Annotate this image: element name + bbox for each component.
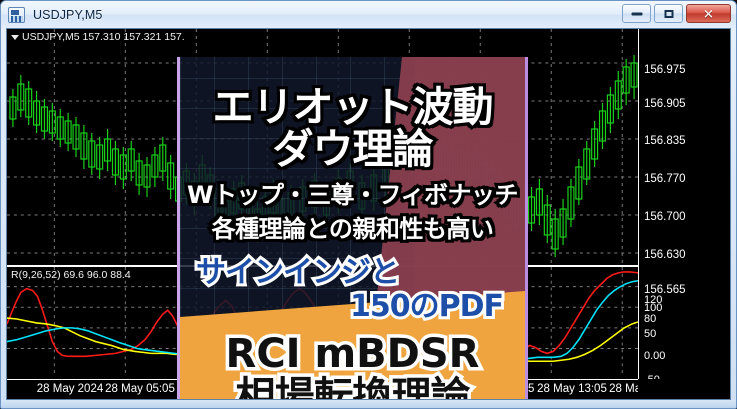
window-titlebar[interactable]: USDJPY,M5 ✕ <box>1 1 736 28</box>
price-tick: 156.835 <box>644 135 686 147</box>
promo-headline-1: エリオット波動 <box>180 87 525 128</box>
close-button[interactable]: ✕ <box>686 4 731 23</box>
time-tick: 28 May 2024 <box>37 383 104 395</box>
promo-footer-1: RCI mBDSR <box>180 334 525 374</box>
maximize-button[interactable] <box>654 4 683 23</box>
price-tick: 156.630 <box>644 249 686 261</box>
price-tick: 156.700 <box>644 211 686 223</box>
indicator-tick: 50 <box>644 328 656 340</box>
promo-headline-2: ダウ理論 <box>180 129 525 170</box>
promo-subline-2: 各種理論との親和性も高い <box>180 217 525 241</box>
price-tick: 156.770 <box>644 173 686 185</box>
promo-blue-line-1: サインインジと <box>180 258 525 288</box>
window-title: USDJPY,M5 <box>33 8 102 22</box>
minimize-button[interactable] <box>622 4 651 23</box>
promo-overlay: エリオット波動 ダウ理論 Wトップ・三尊・フィボナッチ 各種理論との親和性も高い… <box>177 57 528 400</box>
mt4-chart-window: USDJPY,M5 ✕ <box>0 0 737 409</box>
window-controls: ✕ <box>622 4 731 23</box>
price-axis[interactable]: 156.975 156.905 156.835 156.770 156.700 … <box>638 29 730 399</box>
promo-text-block: エリオット波動 ダウ理論 Wトップ・三尊・フィボナッチ 各種理論との親和性も高い… <box>180 57 525 400</box>
chart-client-area[interactable]: USDJPY,M5 157.310 157.321 157. <box>6 28 731 400</box>
axis-corner <box>638 379 730 399</box>
symbol-period-label: USDJPY,M5 157.310 157.321 157. <box>11 31 185 43</box>
window-statusbar <box>1 400 736 408</box>
chart-window-icon <box>8 7 25 23</box>
price-tick: 156.905 <box>644 98 686 110</box>
rci-indicator-label: R(9,26,52) 69.6 96.0 88.4 <box>11 269 131 281</box>
time-tick: 28 May 13:05 <box>537 383 607 395</box>
price-tick: 156.975 <box>644 64 686 76</box>
promo-footer-2: 相場転換理論 <box>180 377 525 400</box>
chart-canvas[interactable]: USDJPY,M5 157.310 157.321 157. <box>7 29 730 399</box>
indicator-tick: 80 <box>644 313 656 325</box>
promo-blue-line-2: 150のPDF <box>180 292 525 322</box>
indicator-tick: 0.00 <box>644 350 665 362</box>
time-tick: 28 May 05:05 <box>105 383 175 395</box>
collapse-triangle-icon[interactable] <box>11 35 19 40</box>
promo-subline-1: Wトップ・三尊・フィボナッチ <box>180 183 525 207</box>
close-icon: ✕ <box>703 7 714 20</box>
